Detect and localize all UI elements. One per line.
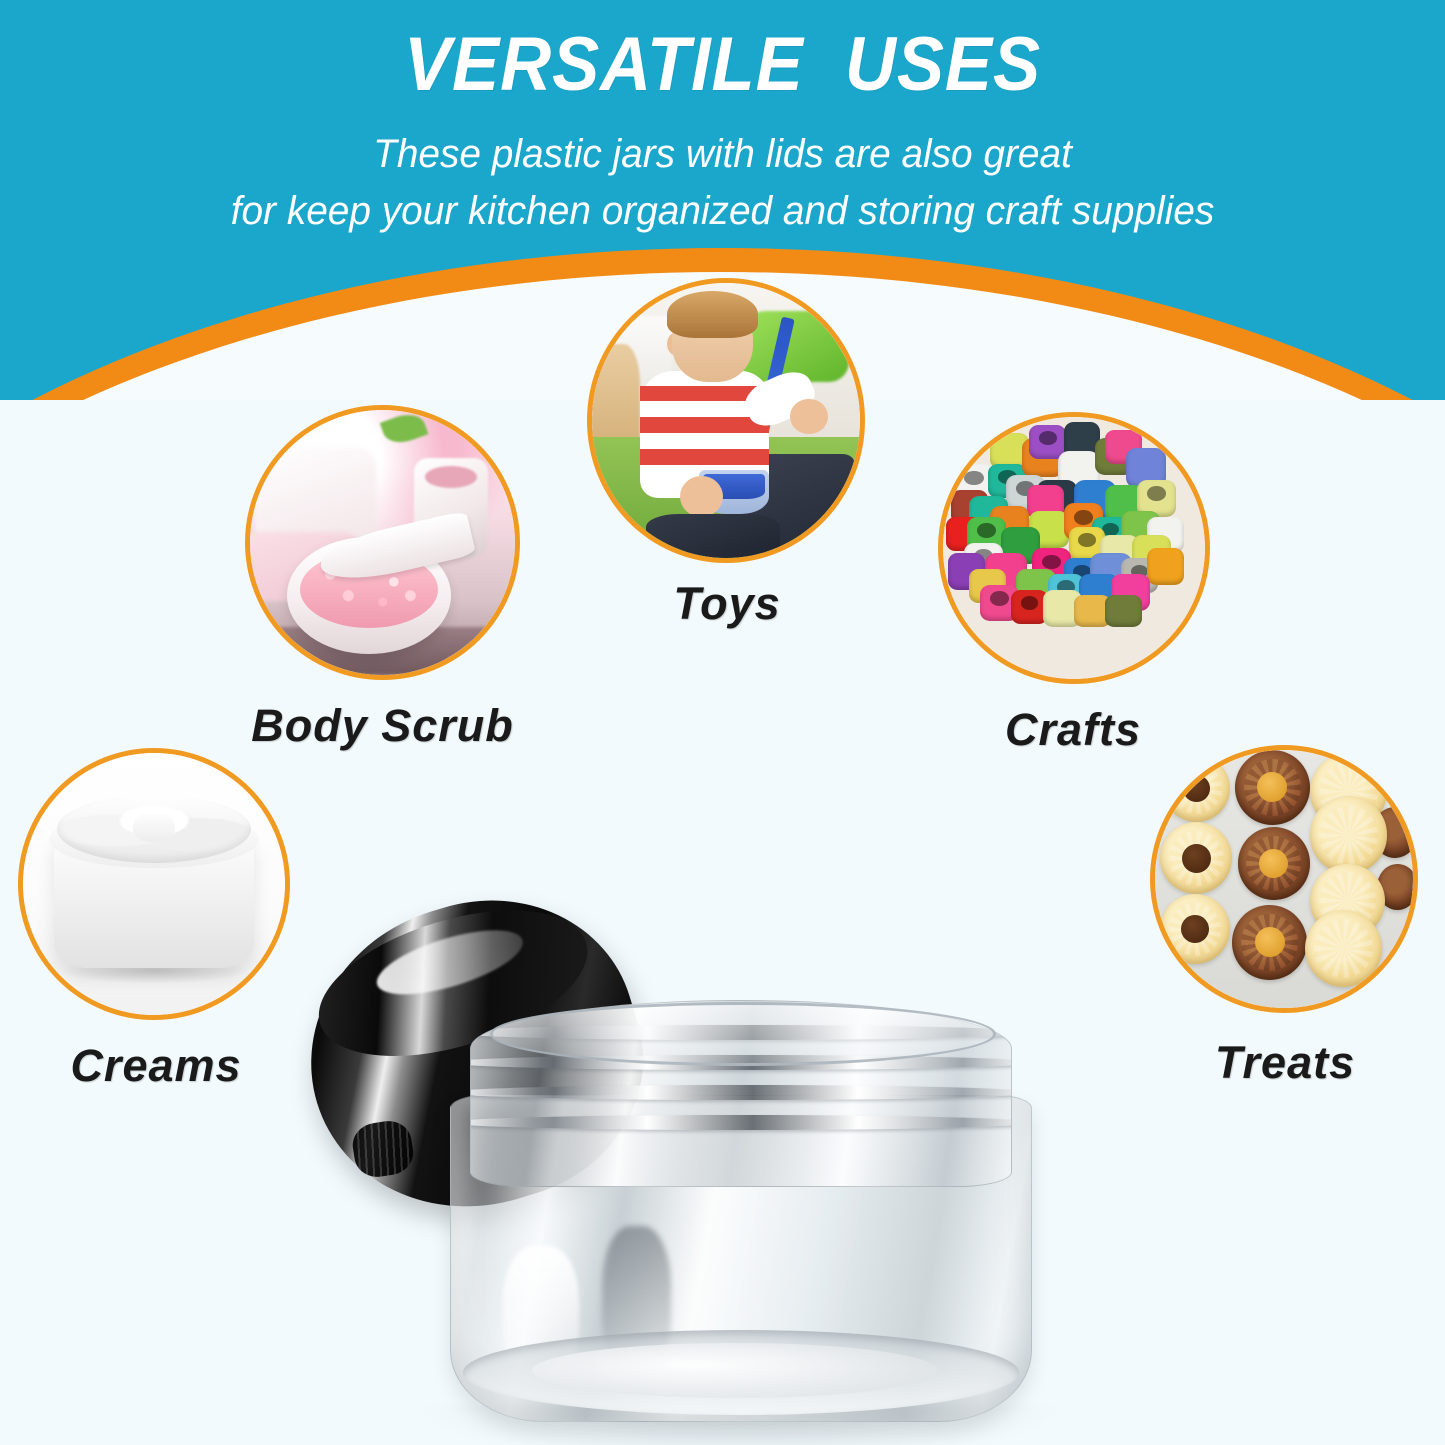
cookie-chocolate xyxy=(1232,905,1307,980)
bead xyxy=(1105,595,1142,626)
crafts-image xyxy=(943,417,1205,679)
shirt-stripe xyxy=(640,417,769,433)
clear-plastic-jar xyxy=(450,1000,1030,1420)
creams-label: Creams xyxy=(0,1040,316,1092)
toys-image xyxy=(592,283,860,558)
child-hand-right xyxy=(790,399,828,435)
cookie-vanilla xyxy=(1305,910,1382,987)
cookie-center xyxy=(1183,775,1210,802)
cookie-swirl xyxy=(1314,919,1373,978)
cookie-vanilla xyxy=(1160,822,1232,894)
body-scrub-circle xyxy=(245,405,520,680)
cookie-vanilla xyxy=(1310,796,1387,873)
bead xyxy=(1147,548,1184,585)
cookie-chocolate xyxy=(1235,750,1310,825)
infographic-page: VERSATILE USES These plastic jars with l… xyxy=(0,0,1445,1445)
subtitle-line-1: These plastic jars with lids are also gr… xyxy=(373,132,1072,176)
cookie-center xyxy=(1255,927,1285,957)
body-scrub-label: Body Scrub xyxy=(220,700,545,752)
page-subtitle: These plastic jars with lids are also gr… xyxy=(22,126,1424,240)
jar-thread xyxy=(470,1115,1012,1130)
cookie-swirl xyxy=(1319,806,1378,865)
cream-peak xyxy=(133,811,175,842)
treats-circle xyxy=(1150,745,1418,1013)
child-hair xyxy=(667,291,758,338)
cookie-center xyxy=(1181,915,1209,943)
lid-grip-ridges xyxy=(349,1118,416,1181)
crafts-circle xyxy=(938,412,1210,684)
cookie-center xyxy=(1182,844,1211,873)
treats-label: Treats xyxy=(1130,1037,1440,1089)
jar-bottom-inner xyxy=(532,1343,938,1398)
jar-opening xyxy=(490,1002,996,1066)
cookie-vanilla xyxy=(1160,894,1230,964)
subtitle-line-2: for keep your kitchen organized and stor… xyxy=(22,183,1424,240)
cookie-vanilla xyxy=(1163,755,1230,822)
toys-label: Toys xyxy=(557,578,897,630)
cookie-chocolate xyxy=(1238,827,1310,899)
child-hand-left xyxy=(680,476,723,517)
child-legs xyxy=(646,514,780,558)
crafts-label: Crafts xyxy=(913,704,1233,756)
page-title: VERSATILE USES xyxy=(51,22,1395,108)
toys-circle xyxy=(587,278,865,563)
body-scrub-image xyxy=(250,410,515,675)
treats-image xyxy=(1155,750,1413,1008)
shirt-stripe xyxy=(640,449,769,464)
cookie-center xyxy=(1259,849,1288,878)
towel-shape xyxy=(255,447,377,537)
product-image xyxy=(300,895,1100,1445)
creams-image xyxy=(23,753,285,1015)
jar-thread xyxy=(470,1085,1012,1100)
creams-circle xyxy=(18,748,290,1020)
leaf-shape xyxy=(379,410,428,448)
